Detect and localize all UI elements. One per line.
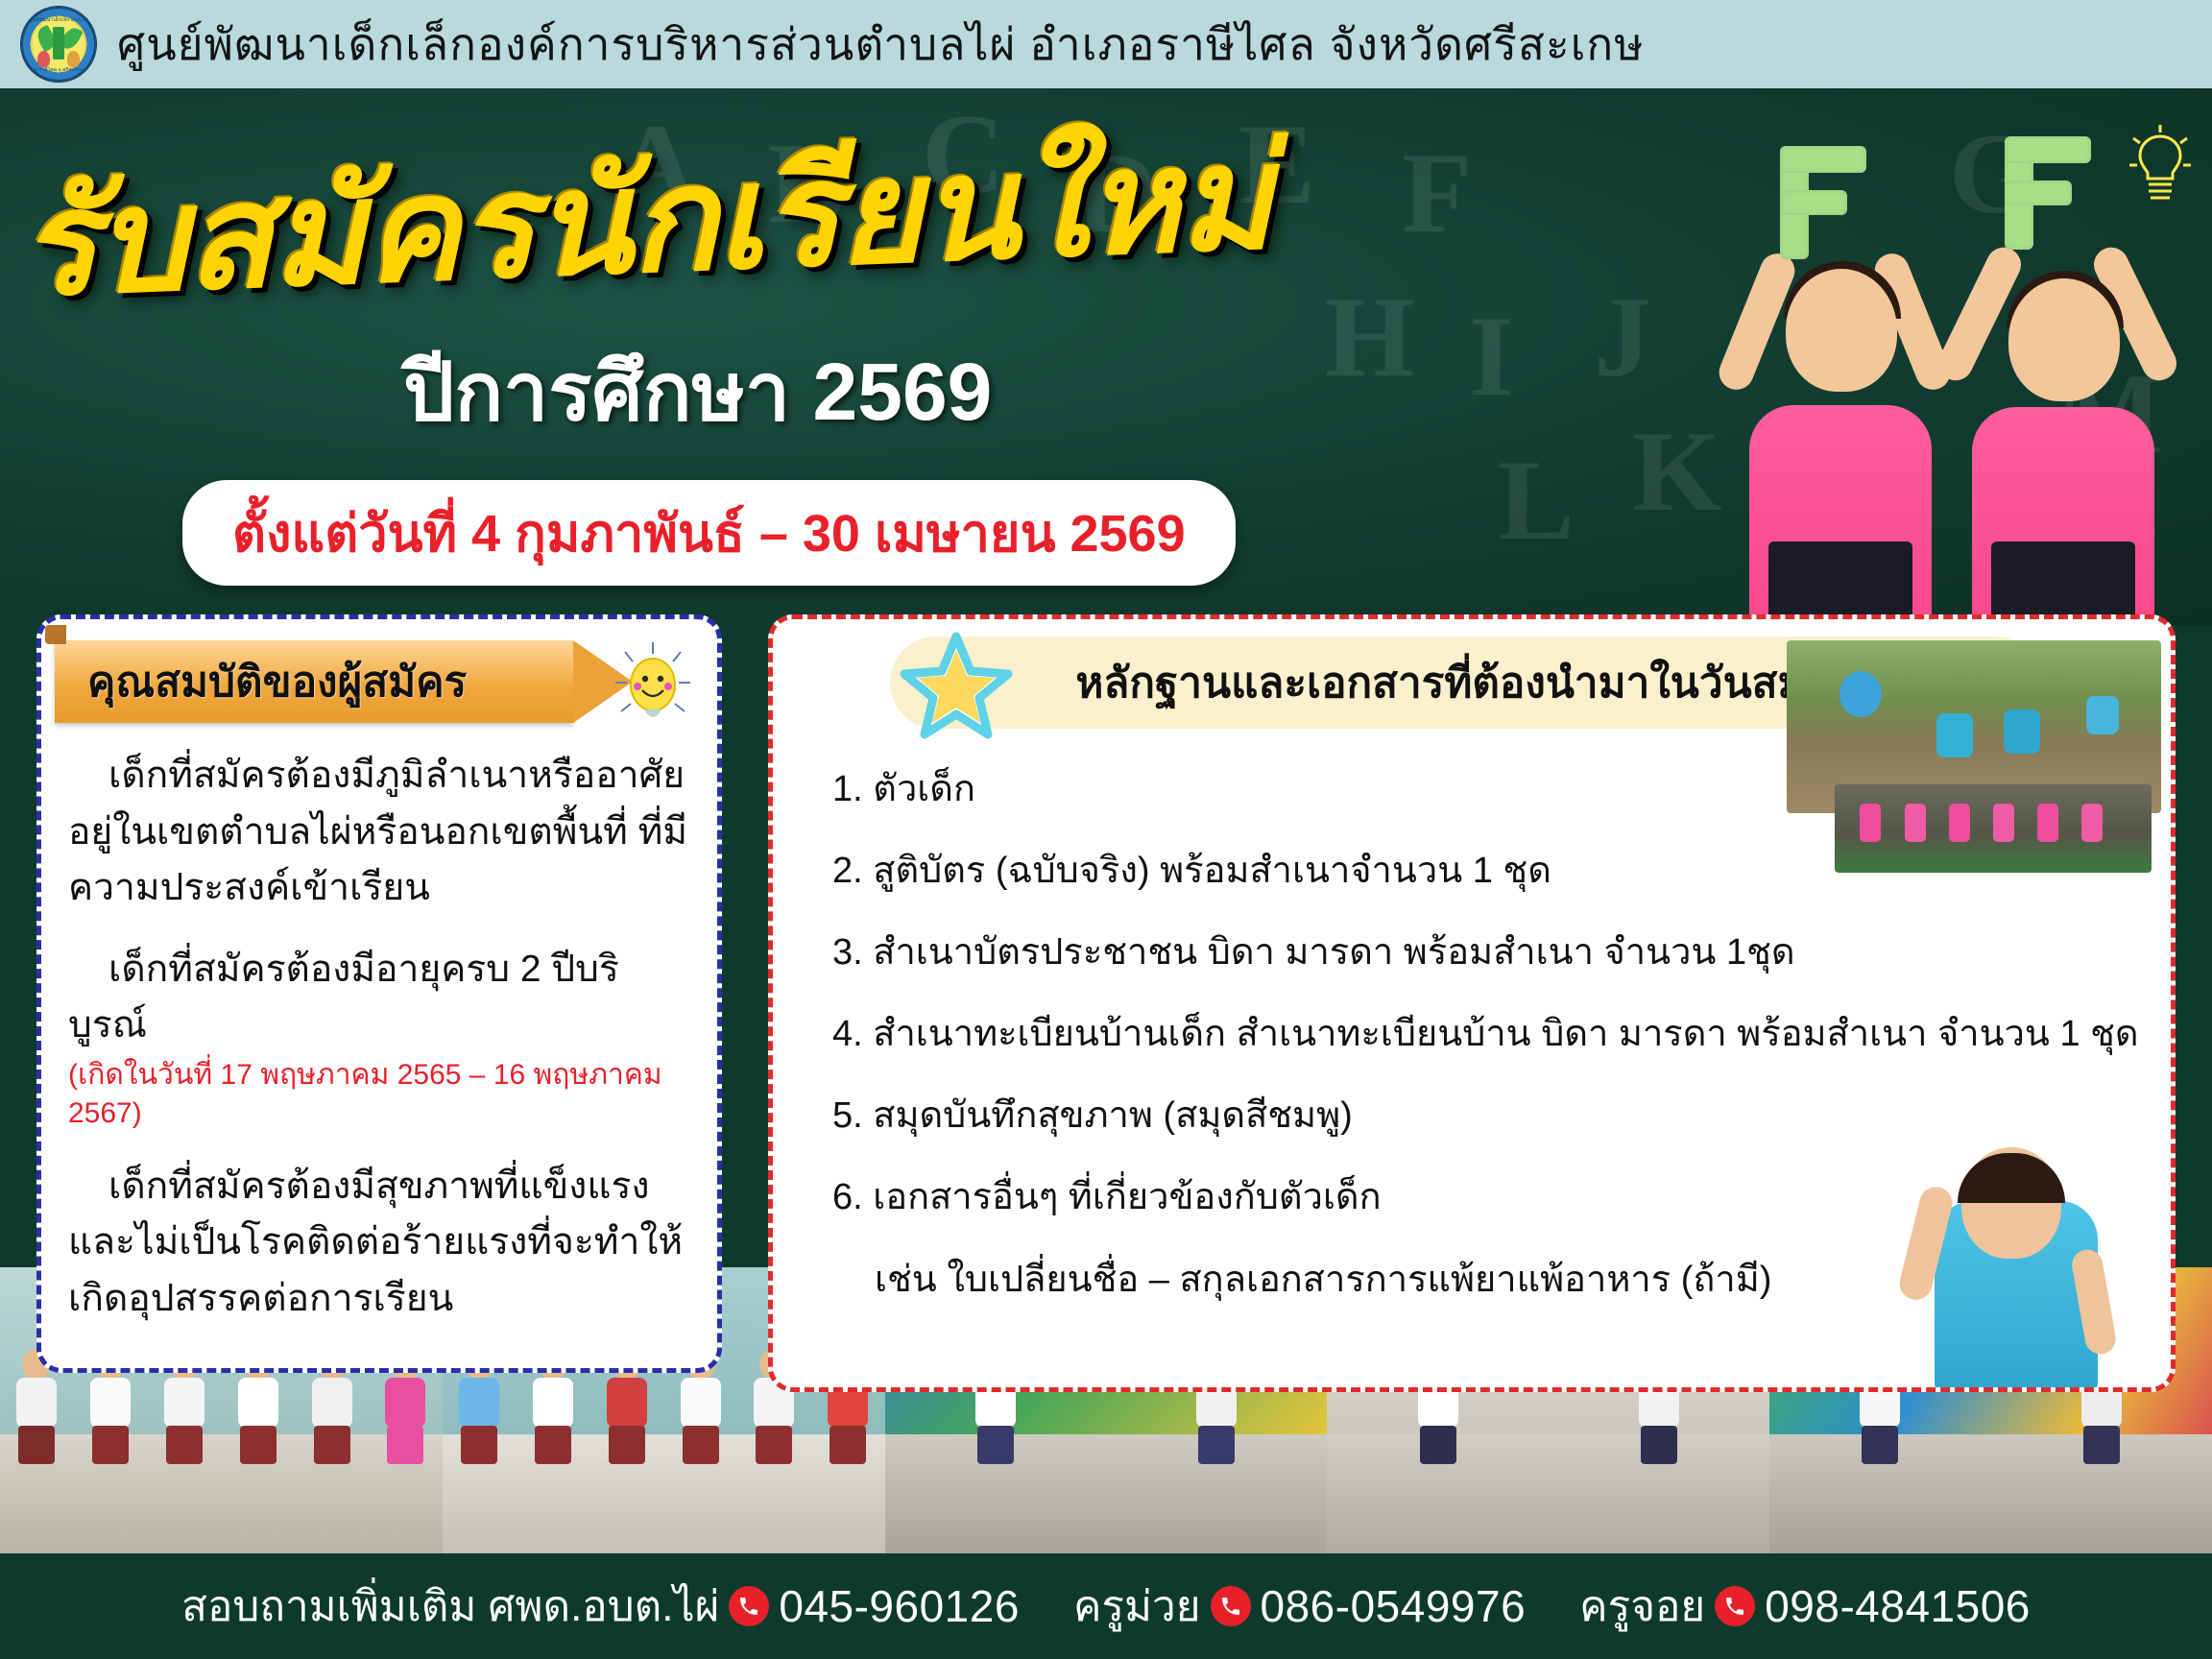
letter-f-prop [1770, 146, 1870, 259]
chalk-letter: I [1469, 290, 1514, 422]
doc-number-4: 4. [832, 1014, 863, 1054]
doc-number-1: 1. [832, 769, 863, 809]
application-date-text: ตั้งแต่วันที่ 4 กุมภาพันธ์ – 30 เมษายน 2… [232, 505, 1186, 563]
contact-item: ครูม่วย 086-0549976 [1073, 1573, 1526, 1640]
qualification-text-1: เด็กที่สมัครต้องมีภูมิลำเนาหรืออาศัยอยู่… [68, 755, 687, 908]
qualifications-ribbon-header: คุณสมบัติของผู้สมัคร [55, 640, 573, 723]
doc-number-5: 5. [832, 1095, 863, 1136]
doc-text-3: สำเนาบัตรประชาชน บิดา มารดา พร้อมสำเนา จ… [873, 932, 1794, 973]
documents-card: หลักฐานและเอกสารที่ต้องนำมาในวันสมัคร 1.… [768, 614, 2176, 1392]
child-left [1732, 127, 1953, 626]
doc-number-3: 3. [832, 932, 863, 973]
letter-f-prop [1995, 136, 2095, 250]
doc-text-1: ตัวเด็ก [873, 769, 975, 809]
doc-text-4: สำเนาทะเบียนบ้านเด็ก สำเนาทะเบียนบ้าน บิ… [873, 1014, 2138, 1054]
list-item: เด็กที่สมัครต้องมีภูมิลำเนาหรืออาศัยอยู่… [68, 748, 690, 917]
doc-text-5: สมุดบันทึกสุขภาพ (สมุดสีชมพู) [873, 1095, 1353, 1136]
contact-label-2: ครูม่วย [1073, 1573, 1201, 1640]
footer-contact-bar: สอบถามเพิ่มเติม ศพด.อบต.ไผ่ 045-960126 ค… [0, 1553, 2212, 1659]
header-title: ศูนย์พัฒนาเด็กเล็กองค์การบริหารส่วนตำบลไ… [117, 10, 1645, 80]
list-item: เด็กที่สมัครต้องมีสุขภาพที่แข็งแรงและไม่… [68, 1159, 690, 1328]
application-date-badge: ตั้งแต่วันที่ 4 กุมภาพันธ์ – 30 เมษายน 2… [182, 480, 1236, 586]
photo-group [1835, 784, 2152, 873]
phone-icon [729, 1586, 769, 1626]
photo-girl [1877, 1076, 2146, 1392]
contact-label-1: สอบถามเพิ่มเติม ศพด.อบต.ไผ่ [181, 1573, 719, 1640]
contact-number-2[interactable]: 086-0549976 [1261, 1580, 1527, 1632]
list-item: 3. สำเนาบัตรประชาชน บิดา มารดา พร้อมสำเน… [832, 926, 2136, 979]
chalk-letter: L [1498, 434, 1575, 566]
seal-top-text: ศูนย์พัฒนาเด็กเล็ก อบต.ไผ่ [23, 16, 94, 24]
playground-photo-collage [1777, 640, 2161, 919]
phone-icon [1211, 1586, 1251, 1626]
smiley-lightbulb-icon [612, 640, 694, 737]
qualification-text-2: เด็กที่สมัครต้องมีอายุครบ 2 ปีบริบูรณ์ [68, 949, 619, 1046]
list-item: เด็กที่สมัครต้องมีอายุครบ 2 ปีบริบูรณ์ (… [68, 942, 690, 1134]
qualifications-list: เด็กที่สมัครต้องมีภูมิลำเนาหรืออาศัยอยู่… [64, 727, 694, 1327]
doc-number-6: 6. [832, 1177, 863, 1217]
documents-title: หลักฐานและเอกสารที่ต้องนำมาในวันสมัคร [1075, 649, 1856, 716]
qualification-note-2: (เกิดในวันที่ 17 พฤษภาคม 2565 – 16 พฤษภา… [68, 1056, 690, 1134]
star-icon [900, 631, 1013, 749]
qualification-text-3: เด็กที่สมัครต้องมีสุขภาพที่แข็งแรงและไม่… [68, 1166, 683, 1319]
list-item: 4. สำเนาทะเบียนบ้านเด็ก สำเนาทะเบียนบ้าน… [832, 1008, 2136, 1061]
seal-bottom-text: อ.ราษีไศล จ.ศรีสะเกษ [23, 66, 94, 74]
contact-item: สอบถามเพิ่มเติม ศพด.อบต.ไผ่ 045-960126 [181, 1573, 1020, 1640]
doc-text-2: สูติบัตร (ฉบับจริง) พร้อมสำเนาจำนวน 1 ชุ… [873, 851, 1551, 891]
qualifications-card: คุณสมบัติของผู้สมัคร เด็กที่สมัครต้องมี [36, 614, 722, 1373]
ribbon-fold [45, 625, 66, 644]
lightbulb-icon [2126, 123, 2195, 210]
chalk-letter: H [1325, 271, 1414, 403]
contact-item: ครูจอย 098-4841506 [1579, 1573, 2031, 1640]
doc-number-2: 2. [832, 851, 863, 891]
academic-year-subtitle: ปีการศึกษา 2569 [403, 326, 992, 455]
school-seal-icon: ศูนย์พัฒนาเด็กเล็ก อบต.ไผ่ อ.ราษีไศล จ.ศ… [21, 7, 96, 82]
doc-text-6: เอกสารอื่นๆ ที่เกี่ยวข้องกับตัวเด็ก [873, 1177, 1381, 1217]
site-header: ศูนย์พัฒนาเด็กเล็ก อบต.ไผ่ อ.ราษีไศล จ.ศ… [0, 0, 2212, 88]
contact-label-3: ครูจอย [1579, 1573, 1705, 1640]
chalk-letter: J [1594, 271, 1651, 403]
contact-number-1[interactable]: 045-960126 [779, 1580, 1020, 1632]
contact-number-3[interactable]: 098-4841506 [1765, 1580, 2031, 1632]
phone-icon [1715, 1586, 1755, 1626]
qualifications-title: คุณสมบัติของผู้สมัคร [87, 648, 467, 715]
